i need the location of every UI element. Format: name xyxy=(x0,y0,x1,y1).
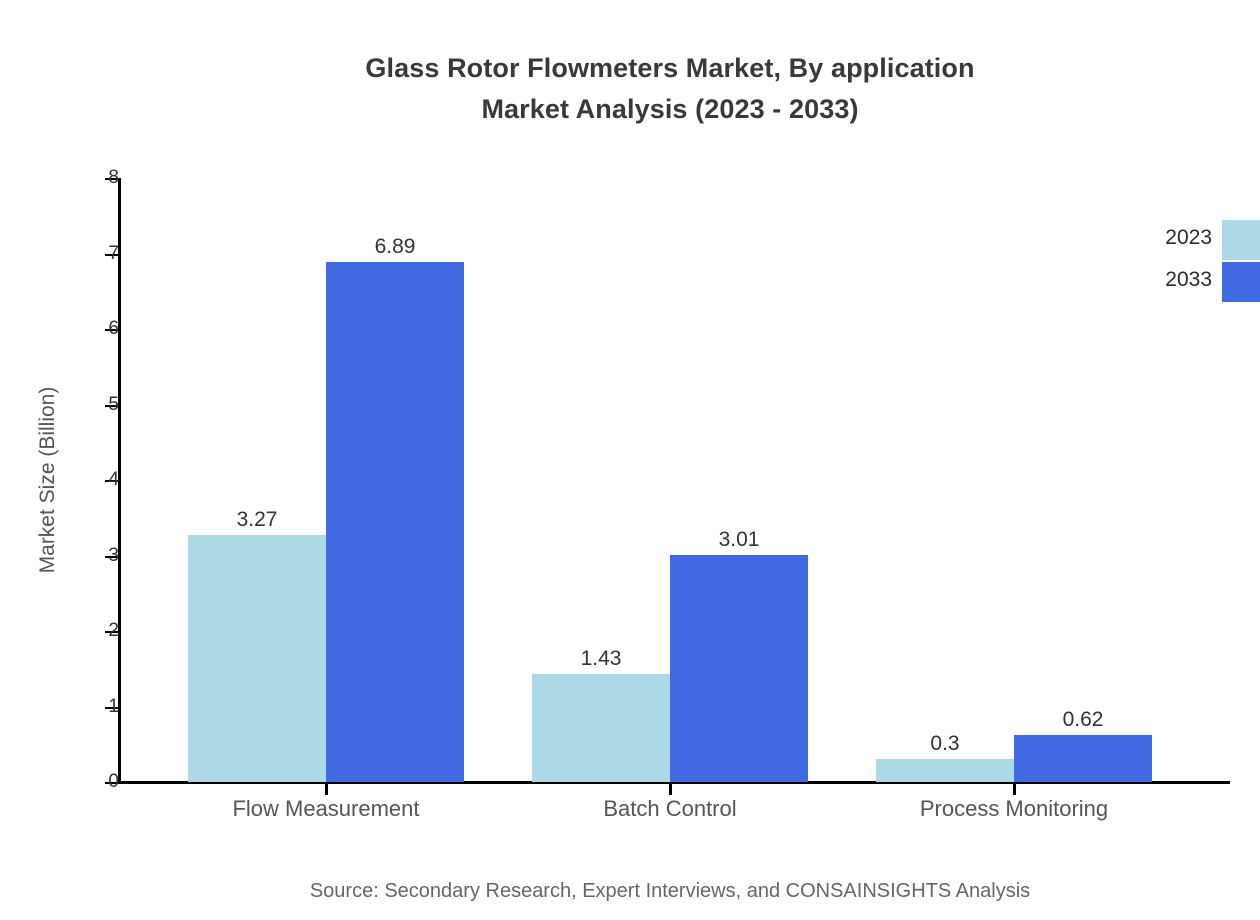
chart-title: Glass Rotor Flowmeters Market, By applic… xyxy=(0,48,1260,130)
bar-2033-process-monitoring[interactable] xyxy=(1014,735,1152,782)
chart-title-line-2: Market Analysis (2023 - 2033) xyxy=(0,89,1260,130)
y-tick-label: 7 xyxy=(29,244,119,263)
bar-value-label: 3.01 xyxy=(639,529,839,550)
bar-value-label: 0.62 xyxy=(983,709,1183,730)
y-tick-label: 2 xyxy=(29,621,119,640)
bar-2033-flow-measurement[interactable] xyxy=(326,262,464,782)
bar-chart: Glass Rotor Flowmeters Market, By applic… xyxy=(0,0,1260,920)
y-tick-label: 8 xyxy=(29,168,119,187)
y-tick-label: 3 xyxy=(29,546,119,565)
chart-title-line-1: Glass Rotor Flowmeters Market, By applic… xyxy=(365,53,974,83)
legend-swatch-2023 xyxy=(1222,220,1260,260)
legend-label-2033: 2033 xyxy=(1130,268,1212,292)
bar-value-label: 6.89 xyxy=(295,236,495,257)
legend-swatch-2033 xyxy=(1222,262,1260,302)
y-tick-label: 4 xyxy=(29,470,119,489)
x-tick-label-batch-control: Batch Control xyxy=(505,793,835,825)
bars-layer: 3.271.430.36.893.010.62 xyxy=(120,178,1230,782)
y-tick-label: 1 xyxy=(29,697,119,716)
bar-2033-batch-control[interactable] xyxy=(670,555,808,782)
y-tick-label: 0 xyxy=(29,772,119,791)
y-tick-label: 6 xyxy=(29,319,119,338)
x-tick-label-process-monitoring: Process Monitoring xyxy=(849,793,1179,825)
y-tick-label: 5 xyxy=(29,395,119,414)
bar-2023-batch-control[interactable] xyxy=(532,674,670,782)
bar-2023-process-monitoring[interactable] xyxy=(876,759,1014,782)
legend-label-2023: 2023 xyxy=(1130,226,1212,250)
bar-2023-flow-measurement[interactable] xyxy=(188,535,326,782)
x-tick-label-flow-measurement: Flow Measurement xyxy=(161,793,491,825)
source-note: Source: Secondary Research, Expert Inter… xyxy=(0,876,1260,906)
